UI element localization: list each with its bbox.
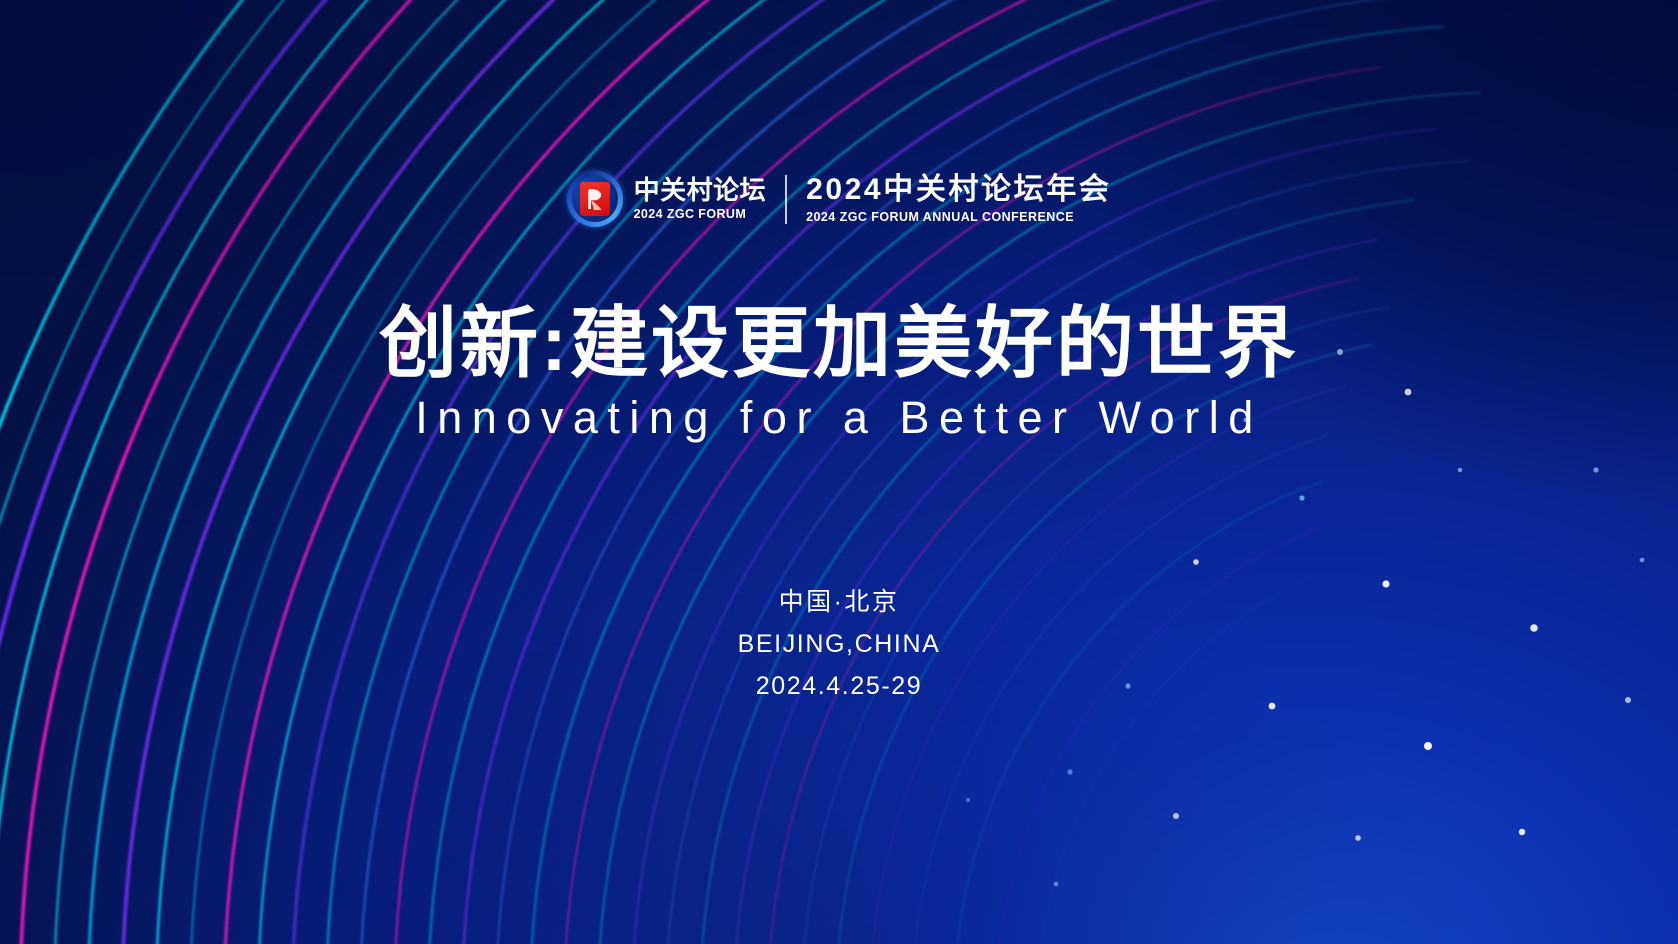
venue-city-en: BEIJING,CHINA — [738, 632, 941, 657]
logo-name-en: 2024 ZGC FORUM — [634, 208, 767, 221]
headline-block: 创新:建设更加美好的世界 Innovating for a Better Wor… — [379, 302, 1299, 442]
conference-title-cn: 2024中关村论坛年会 — [806, 175, 1111, 205]
headline-chinese: 创新:建设更加美好的世界 — [379, 302, 1299, 385]
poster-content: 中关村论坛 2024 ZGC FORUM 2024中关村论坛年会 2024 ZG… — [0, 0, 1678, 944]
logo-name-cn: 中关村论坛 — [634, 177, 767, 203]
conference-title-en: 2024 ZGC FORUM ANNUAL CONFERENCE — [806, 211, 1111, 224]
venue-block: 中国·北京 BEIJING,CHINA 2024.4.25-29 — [738, 590, 941, 699]
conference-title-block: 2024中关村论坛年会 2024 ZGC FORUM ANNUAL CONFER… — [806, 175, 1111, 224]
headline-english: Innovating for a Better World — [415, 393, 1262, 443]
zgc-forum-emblem-icon — [567, 171, 623, 227]
conference-poster: 中关村论坛 2024 ZGC FORUM 2024中关村论坛年会 2024 ZG… — [0, 0, 1678, 944]
venue-city-cn: 中国·北京 — [779, 590, 900, 615]
logo-lockup: 中关村论坛 2024 ZGC FORUM 2024中关村论坛年会 2024 ZG… — [567, 168, 1112, 230]
venue-date: 2024.4.25-29 — [756, 674, 923, 699]
logo-divider — [785, 175, 787, 224]
logo-text-chinese: 中关村论坛 2024 ZGC FORUM — [634, 177, 767, 221]
